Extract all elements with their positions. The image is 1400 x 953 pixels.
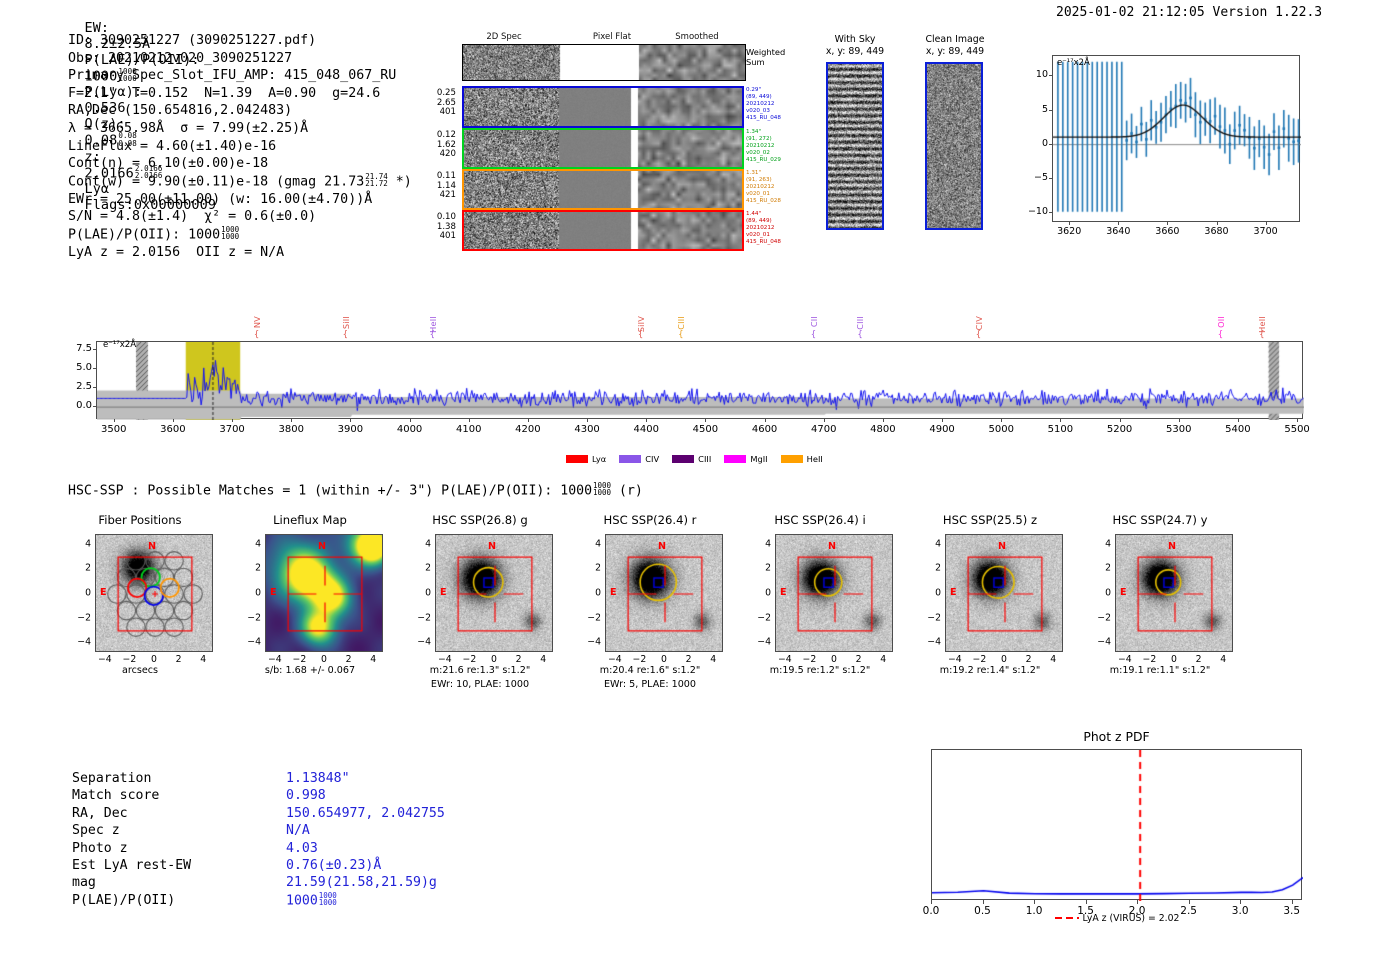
info-plae: P(LAE)/P(OII): 100010001000 — [68, 226, 412, 244]
legend-entry: CIV — [619, 454, 659, 464]
info-lambda-sigma: λ = 3665.98Å σ = 7.99(±2.25)Å — [68, 120, 412, 138]
spec2d-title-pixelflat: Pixel Flat — [572, 32, 652, 42]
match-table-key: mag — [72, 874, 96, 891]
north-label: N — [148, 541, 156, 552]
match-table-key: Separation — [72, 770, 151, 787]
cutout-xtick: −2 — [463, 654, 477, 665]
cutout-xtick: −2 — [973, 654, 987, 665]
spec2d-row-2-right: 1.31"(91, 263)20210212v020_01415_RU_028 — [746, 170, 781, 205]
cutout-xtick: 2 — [176, 654, 182, 665]
mainspec-xtick: 5000 — [979, 424, 1023, 435]
cutout-ytick: 4 — [751, 538, 771, 549]
emission-line-label: CIII — [676, 316, 686, 330]
north-label: N — [318, 541, 326, 552]
mainspec-xtick: 5500 — [1275, 424, 1319, 435]
spectrum-legend: LyαCIVCIIIMgIIHeII — [566, 454, 823, 464]
cutout-subcaption-1: arcsecs — [55, 665, 225, 676]
mainspec-xtick: 3800 — [269, 424, 313, 435]
match-table-key: Spec z — [72, 822, 120, 839]
cutout-xtick: −4 — [608, 654, 622, 665]
legend-swatch — [724, 455, 746, 463]
info-lineflux: LineFlux = 4.60(±1.40)e-16 — [68, 138, 412, 156]
cutout-xtick: 2 — [346, 654, 352, 665]
cutout-xtick: 2 — [1196, 654, 1202, 665]
info-redshifts: LyA z = 2.0156 OII z = N/A — [68, 244, 412, 262]
spec2d-row-3-right: 1.44"(89, 449)20210212v020_01415_RU_048 — [746, 211, 781, 246]
cutout-xtick: 4 — [370, 654, 376, 665]
spec2d-row-2-left: 0.111.14421 — [418, 172, 456, 201]
mainspec-ytick: 0.0 — [56, 400, 92, 411]
cutout-xtick: −4 — [948, 654, 962, 665]
emission-line-label: CIV — [974, 316, 984, 330]
spec2d-row-3-left: 0.101.38401 — [418, 213, 456, 242]
spec2d-row-1-left: 0.121.62420 — [418, 131, 456, 160]
cutout-xtick: 2 — [1026, 654, 1032, 665]
cutout-xtick: 0 — [661, 654, 667, 665]
mainspec-xtick: 4400 — [624, 424, 668, 435]
legend-label: Lyα — [592, 454, 606, 464]
spec2d-row-1 — [462, 128, 744, 169]
emission-line-brace: { — [638, 330, 643, 340]
match-table-value: 21.59(21.58,21.59)g — [286, 874, 437, 891]
mainspec-xtick: 4000 — [388, 424, 432, 435]
cutout-xtick: 4 — [200, 654, 206, 665]
cutout-xtick: −2 — [123, 654, 137, 665]
cutout-xtick: −4 — [1118, 654, 1132, 665]
match-table-value: N/A — [286, 822, 310, 839]
cutout-xtick: 4 — [1220, 654, 1226, 665]
clean-image-title: Clean Imagex, y: 89, 449 — [905, 34, 1005, 57]
emission-line-brace: { — [430, 330, 435, 340]
spec2d-row-0 — [462, 86, 744, 128]
mainspec-xtick: 3900 — [328, 424, 372, 435]
cutout-subcaption-1: m:21.6 re:1.3" s:1.2" — [395, 665, 565, 676]
mainspec-ytick: 5.0 — [56, 362, 92, 373]
north-label: N — [998, 541, 1006, 552]
cutout-panel-title: HSC SSP(26.4) r — [565, 513, 735, 527]
cutout-ytick: 2 — [411, 563, 431, 574]
spec2d-row-2 — [462, 169, 744, 210]
cutout-subcaption-1: m:19.5 re:1.2" s:1.2" — [735, 665, 905, 676]
emission-line-brace: { — [343, 330, 348, 340]
mainspec-xtick: 4200 — [506, 424, 550, 435]
spec2d-row-0-left: 0.252.65401 — [418, 89, 456, 118]
match-table-key: Match score — [72, 787, 159, 804]
cutout-ytick: 2 — [71, 563, 91, 574]
cutout-ytick: 2 — [581, 563, 601, 574]
with-sky-title: With Skyx, y: 89, 449 — [810, 34, 900, 57]
cutout-xtick: −2 — [1143, 654, 1157, 665]
cutout-subcaption-1: m:20.4 re:1.6" s:1.2" — [565, 665, 735, 676]
cutout-ytick: −2 — [1091, 612, 1111, 623]
mainspec-xtick: 4900 — [920, 424, 964, 435]
spec2d-row-1-right: 1.34"(91, 272)20210212v020_02415_RU_029 — [746, 129, 781, 164]
north-label: N — [1168, 541, 1176, 552]
legend-label: CIV — [645, 454, 659, 464]
match-table-value: 0.998 — [286, 787, 326, 804]
east-label: E — [780, 587, 787, 598]
photz-legend-label: LyA z (VIRUS) = 2.02 — [1083, 913, 1180, 924]
with-sky-image — [826, 62, 884, 230]
legend-swatch — [781, 455, 803, 463]
info-radec: RA,Dec (150.654816,2.042483) — [68, 102, 412, 120]
spec2d-row-0-right: 0.29"(89, 449)20210212v020_03415_RU_048 — [746, 87, 781, 122]
cutout-xtick: 4 — [710, 654, 716, 665]
match-table-key: P(LAE)/P(OII) — [72, 892, 175, 909]
mainspec-xtick: 4500 — [683, 424, 727, 435]
cutout-xtick: 4 — [880, 654, 886, 665]
cutout-ytick: 2 — [921, 563, 941, 574]
cutout-ytick: 0 — [411, 588, 431, 599]
cutout-ytick: 2 — [751, 563, 771, 574]
cutout-image[interactable]: NE — [945, 534, 1063, 652]
legend-label: MgII — [750, 454, 767, 464]
legend-swatch — [672, 455, 694, 463]
north-label: N — [488, 541, 496, 552]
east-label: E — [610, 587, 617, 598]
detection-info-block: ID: 3090251227 (3090251227.pdf) Obs: 202… — [68, 32, 412, 261]
match-table-value: 0.76(±0.23)Å — [286, 857, 381, 874]
cutout-panel-title: HSC SSP(26.8) g — [395, 513, 565, 527]
cutout-xtick: 2 — [516, 654, 522, 665]
legend-entry: MgII — [724, 454, 767, 464]
info-sn: S/N = 4.8(±1.4) χ² = 0.6(±0.0) — [68, 208, 412, 226]
info-id: ID: 3090251227 (3090251227.pdf) — [68, 32, 412, 50]
cutout-ytick: −4 — [241, 637, 261, 648]
cutout-ytick: 4 — [921, 538, 941, 549]
mainspec-xtick: 5400 — [1216, 424, 1260, 435]
weighted-sum-label: Weighted Sum — [746, 48, 785, 67]
emission-line-brace: { — [857, 330, 862, 340]
cutout-subcaption-1: m:19.2 re:1.4" s:1.2" — [905, 665, 1075, 676]
cutout-panel-title: HSC SSP(24.7) y — [1075, 513, 1245, 527]
cutout-xtick: −4 — [268, 654, 282, 665]
match-table-key: RA, Dec — [72, 805, 128, 822]
east-label: E — [270, 587, 277, 598]
east-label: E — [950, 587, 957, 598]
match-table-value: 150.654977, 2.042755 — [286, 805, 445, 822]
north-label: N — [828, 541, 836, 552]
mainspec-units: e⁻¹⁷x2Å — [103, 340, 136, 350]
mainspec-xtick: 5200 — [1098, 424, 1142, 435]
emission-line-label: CIII — [855, 316, 865, 330]
cutout-xtick: 2 — [686, 654, 692, 665]
cutout-ytick: −2 — [241, 612, 261, 623]
line-fit-chart: e⁻¹⁷x2Å — [1052, 55, 1300, 222]
legend-swatch — [619, 455, 641, 463]
mainspec-xtick: 4700 — [802, 424, 846, 435]
cutout-image[interactable]: NE — [775, 534, 893, 652]
cutout-xtick: −2 — [633, 654, 647, 665]
east-label: E — [100, 587, 107, 598]
cutout-ytick: 4 — [1091, 538, 1111, 549]
cutout-xtick: 0 — [151, 654, 157, 665]
zoomfit-xtick: 3640 — [1098, 226, 1138, 237]
mainspec-ytick: 7.5 — [56, 343, 92, 354]
east-label: E — [440, 587, 447, 598]
emission-line-brace: { — [1259, 330, 1264, 340]
cutout-ytick: −2 — [411, 612, 431, 623]
cutout-ytick: 4 — [581, 538, 601, 549]
spec2d-panel: 2D Spec Pixel Flat Smoothed Weighted Sum… — [430, 32, 790, 247]
info-cont-n: Cont(n) = 6.10(±0.00)e-18 — [68, 155, 412, 173]
zoomfit-ytick: 5 — [1016, 104, 1048, 115]
cutout-ytick: 4 — [71, 538, 91, 549]
cutout-xtick: −2 — [293, 654, 307, 665]
cutout-ytick: 0 — [1091, 588, 1111, 599]
cutout-xtick: −4 — [98, 654, 112, 665]
cutout-ytick: −2 — [71, 612, 91, 623]
cutout-xtick: 2 — [856, 654, 862, 665]
north-label: N — [658, 541, 666, 552]
legend-entry: CIII — [672, 454, 711, 464]
cutout-xtick: 0 — [321, 654, 327, 665]
cutout-ytick: 0 — [751, 588, 771, 599]
mainspec-xtick: 4600 — [743, 424, 787, 435]
cutout-xtick: 4 — [1050, 654, 1056, 665]
clean-image — [925, 62, 983, 230]
cutout-ytick: −4 — [921, 637, 941, 648]
info-ewr: EWr = 25.00(±11.00) (w: 16.00(±4.70))Å — [68, 191, 412, 209]
cutout-panel-title: HSC SSP(26.4) i — [735, 513, 905, 527]
legend-label: HeII — [807, 454, 823, 464]
emission-line-label: OII — [1216, 316, 1226, 328]
cutout-ytick: 0 — [71, 588, 91, 599]
cutout-xtick: −4 — [778, 654, 792, 665]
cutout-xtick: 0 — [1171, 654, 1177, 665]
mainspec-xtick: 4100 — [447, 424, 491, 435]
match-table-key: Photo z — [72, 840, 128, 857]
info-cont-w: Cont(w) = 9.90(±0.11)e-18 (gmag 21.7321.… — [68, 173, 412, 191]
mainspec-xtick: 4300 — [565, 424, 609, 435]
cutout-ytick: −4 — [71, 637, 91, 648]
cutout-image[interactable]: NE — [435, 534, 553, 652]
zoomfit-xtick: 3620 — [1049, 226, 1089, 237]
mainspec-xtick: 3600 — [151, 424, 195, 435]
cutout-xtick: 4 — [540, 654, 546, 665]
cutout-ytick: 0 — [921, 588, 941, 599]
cutout-subcaption-1: s/b: 1.68 +/- 0.067 — [225, 665, 395, 676]
legend-label: CIII — [698, 454, 711, 464]
weighted-sum-strip — [462, 44, 746, 81]
spec2d-row-3 — [462, 210, 744, 251]
spec2d-title-smoothed: Smoothed — [657, 32, 737, 42]
photz-title: Phot z PDF — [931, 729, 1302, 744]
info-primary-slot: Primary Spec_Slot_IFU_AMP: 415_048_067_R… — [68, 67, 412, 85]
info-obs: Obs: 20210212v020_3090251227 — [68, 50, 412, 68]
east-label: E — [1120, 587, 1127, 598]
mainspec-xtick: 5100 — [1038, 424, 1082, 435]
hsc-match-header: HSC-SSP : Possible Matches = 1 (within +… — [68, 482, 643, 498]
cutout-ytick: −4 — [581, 637, 601, 648]
cutout-xtick: 0 — [831, 654, 837, 665]
legend-entry: HeII — [781, 454, 823, 464]
match-table-key: Est LyA rest-EW — [72, 857, 191, 874]
cutout-panel-title: HSC SSP(25.5) z — [905, 513, 1075, 527]
cutout-ytick: −4 — [411, 637, 431, 648]
match-table-value: 100010001000 — [286, 892, 337, 910]
emission-line-brace: { — [976, 330, 981, 340]
cutout-ytick: 0 — [241, 588, 261, 599]
cutout-subcaption-1: m:19.1 re:1.1" s:1.2" — [1075, 665, 1245, 676]
zoomfit-ytick: 0 — [1016, 138, 1048, 149]
zoomfit-units: e⁻¹⁷x2Å — [1057, 58, 1090, 68]
legend-swatch — [566, 455, 588, 463]
mainspec-xtick: 3700 — [210, 424, 254, 435]
cutout-panel-title: Fiber Positions — [55, 513, 225, 527]
cutout-subcaption-2: EWr: 5, PLAE: 1000 — [565, 679, 735, 690]
emission-line-brace: { — [1218, 330, 1223, 340]
timestamp: 2025-01-02 21:12:05 Version 1.22.3 — [1056, 5, 1322, 20]
cutout-ytick: −4 — [1091, 637, 1111, 648]
cutout-xtick: −4 — [438, 654, 452, 665]
photz-chart — [931, 749, 1302, 900]
match-table-value: 1.13848" — [286, 770, 350, 787]
emission-line-label: SiII — [341, 316, 351, 329]
cutout-panel-title: Lineflux Map — [225, 513, 395, 527]
cutout-ytick: 4 — [241, 538, 261, 549]
info-seeing: F=2.1" T=0.152 N=1.39 A=0.90 g=24.6 — [68, 85, 412, 103]
cutout-xtick: 0 — [1001, 654, 1007, 665]
cutout-ytick: 0 — [581, 588, 601, 599]
cutout-image[interactable]: NE — [265, 534, 383, 652]
emission-line-brace: { — [678, 330, 683, 340]
cutout-xtick: −2 — [803, 654, 817, 665]
cutout-image[interactable]: NE — [605, 534, 723, 652]
cutout-subcaption-2: EWr: 10, PLAE: 1000 — [395, 679, 565, 690]
mainspec-xtick: 4800 — [861, 424, 905, 435]
zoomfit-xtick: 3660 — [1147, 226, 1187, 237]
cutout-xtick: 0 — [491, 654, 497, 665]
zoomfit-ytick: −5 — [1016, 172, 1048, 183]
cutout-ytick: 2 — [241, 563, 261, 574]
zoomfit-xtick: 3680 — [1197, 226, 1237, 237]
emission-line-label: NV — [252, 316, 262, 328]
mainspec-xtick: 3500 — [92, 424, 136, 435]
zoomfit-xtick: 3700 — [1246, 226, 1286, 237]
dashed-line-icon — [1054, 914, 1080, 922]
emission-line-brace: { — [254, 330, 259, 340]
cutout-ytick: −2 — [581, 612, 601, 623]
emission-line-brace: { — [811, 330, 816, 340]
cutout-image[interactable]: NE — [95, 534, 213, 652]
full-spectrum-chart: e⁻¹⁷x2Å — [96, 341, 1303, 419]
cutout-image[interactable]: NE — [1115, 534, 1233, 652]
cutout-ytick: 4 — [411, 538, 431, 549]
photz-legend: LyA z (VIRUS) = 2.02 — [931, 913, 1302, 924]
cutout-ytick: −4 — [751, 637, 771, 648]
cutout-ytick: −2 — [921, 612, 941, 623]
zoomfit-ytick: −10 — [1016, 206, 1048, 217]
zoomfit-ytick: 10 — [1016, 69, 1048, 80]
mainspec-ytick: 2.5 — [56, 381, 92, 392]
cutout-ytick: 2 — [1091, 563, 1111, 574]
match-table-value: 4.03 — [286, 840, 318, 857]
mainspec-xtick: 5300 — [1157, 424, 1201, 435]
cutout-ytick: −2 — [751, 612, 771, 623]
spec2d-title-2dspec: 2D Spec — [464, 32, 544, 42]
emission-line-label: CII — [809, 316, 819, 327]
legend-entry: Lyα — [566, 454, 606, 464]
